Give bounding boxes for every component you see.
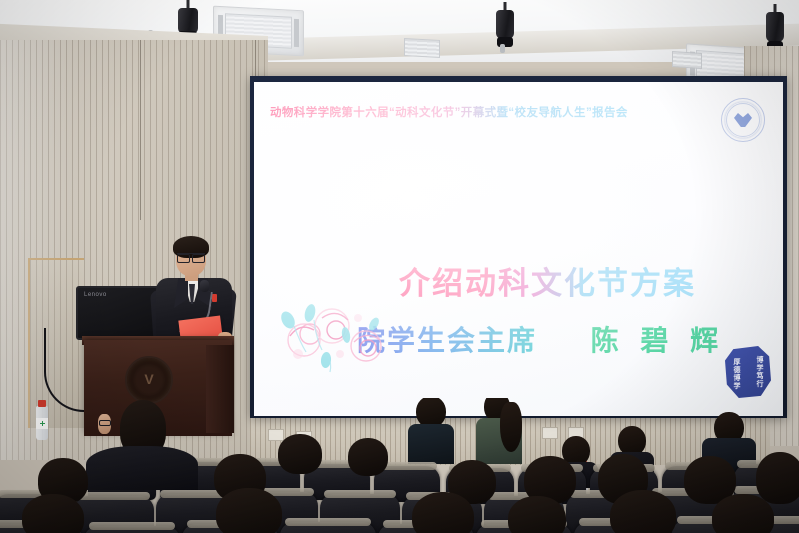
audience-member [348,438,388,476]
slide-subtitle-name: 陈 碧 辉 [591,325,726,356]
slide-subtitle: 院学生会主席 陈 碧 辉 [357,319,725,359]
audience-area [0,398,799,533]
auditorium-seat [84,526,180,533]
audience-member [408,398,454,458]
presentation-slide: 动物科学学院第十六届“动科文化节”开幕式暨“校友导航人生”报告会 介绍动科文化节… [254,82,783,416]
audience-member [756,452,799,504]
sprinkler [500,44,505,53]
microphone-icon [200,280,209,292]
audience-member [610,490,676,533]
spotlight [496,2,514,42]
podium-crest-icon: V [125,356,173,404]
glasses-icon [99,420,111,426]
audience-member [278,434,322,474]
glasses-icon [177,253,205,260]
auditorium-photo: 动物科学学院第十六届“动科文化节”开幕式暨“校友导航人生”报告会 介绍动科文化节… [0,0,799,533]
audience-shoulders [86,446,198,490]
decorative-stamp-icon: 厚德博学 博学笃行 [725,346,771,398]
water-bottle [36,406,48,440]
laptop-brand-label: Lenovo [84,292,107,298]
speaker-badge [212,294,217,302]
university-seal-icon [721,98,765,142]
floral-watercolor-decoration [270,296,390,378]
audience-member [412,492,474,533]
ac-vent [672,51,702,69]
auditorium-seat [280,522,376,533]
audience-member [712,494,774,533]
audience-member [216,488,282,533]
audience-member [508,496,566,533]
ac-vent [404,38,440,58]
speaker [152,236,240,348]
slide-header-text: 动物科学学院第十六届“动科文化节”开幕式暨“校友导航人生”报告会 [270,104,628,120]
audience-member [472,398,526,462]
stamp-text-left: 厚德博学 [732,358,741,390]
slide-title: 介绍动科文化节方案 [399,258,696,303]
stamp-text-right: 博学笃行 [755,356,764,388]
spotlight [178,0,198,36]
audience-member [22,494,84,533]
spotlight [766,4,784,46]
